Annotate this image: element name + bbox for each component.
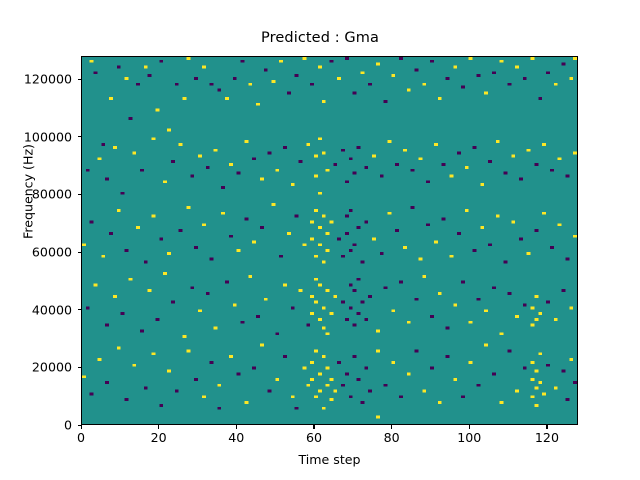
y-tick-mark <box>78 79 82 80</box>
y-tick-mark <box>78 425 82 426</box>
x-tick-label: 20 <box>151 430 167 445</box>
x-tick-mark <box>391 425 392 429</box>
y-tick-label: 80000 <box>0 187 72 202</box>
y-tick-label: 120000 <box>0 72 72 87</box>
y-tick-mark <box>78 252 82 253</box>
page-title: Predicted : Gma <box>0 30 640 46</box>
x-tick-mark <box>158 425 159 429</box>
x-tick-mark <box>236 425 237 429</box>
x-tick-label: 0 <box>77 430 85 445</box>
y-tick-label: 60000 <box>0 245 72 260</box>
y-axis-label: Frequency (Hz) <box>21 72 36 312</box>
x-tick-mark <box>546 425 547 429</box>
x-tick-label: 80 <box>384 430 400 445</box>
x-axis-label: Time step <box>81 452 578 467</box>
x-tick-mark <box>313 425 314 429</box>
x-tick-label: 100 <box>457 430 481 445</box>
y-tick-label: 40000 <box>0 302 72 317</box>
y-tick-label: 0 <box>0 418 72 433</box>
x-tick-label: 120 <box>535 430 559 445</box>
y-tick-label: 100000 <box>0 129 72 144</box>
y-tick-mark <box>78 194 82 195</box>
spectrogram-heatmap <box>82 57 577 424</box>
y-tick-mark <box>78 309 82 310</box>
y-tick-label: 20000 <box>0 360 72 375</box>
x-tick-label: 40 <box>228 430 244 445</box>
x-tick-label: 60 <box>306 430 322 445</box>
x-tick-mark <box>469 425 470 429</box>
heatmap-axes <box>81 56 578 425</box>
y-tick-mark <box>78 367 82 368</box>
y-tick-mark <box>78 136 82 137</box>
matplotlib-figure: Predicted : Gma 020406080100120020000400… <box>0 0 640 480</box>
